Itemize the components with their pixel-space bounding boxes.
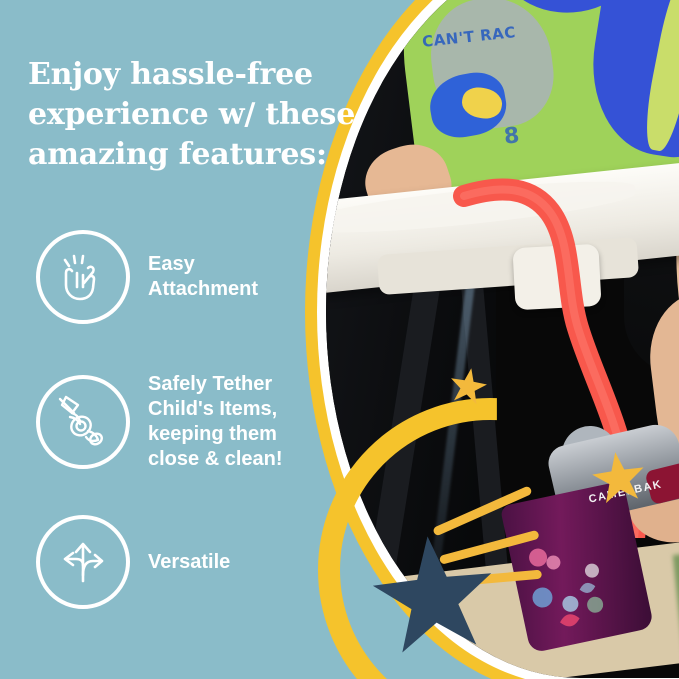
- shirt-number: 8: [503, 123, 521, 149]
- product-feature-infographic: CAN'T RAC 8 CAMELBAK: [0, 0, 679, 679]
- snapping-fingers-hand-icon: [36, 230, 130, 324]
- feature-label: Versatile: [148, 550, 230, 575]
- feature-label: Safely Tether Child's Items, keeping the…: [148, 372, 283, 472]
- feature-item-versatile: Versatile: [36, 515, 230, 609]
- feature-label: Easy Attachment: [148, 252, 258, 302]
- feature-item-easy-attachment: Easy Attachment: [36, 230, 258, 324]
- three-way-arrows-icon: [36, 515, 130, 609]
- pacifier-tether-icon: [36, 375, 130, 469]
- high-chair-tray-clip: [512, 244, 601, 310]
- page-title: Enjoy hassle-free experience w/ these am…: [28, 55, 388, 175]
- feature-item-safely-tether: Safely Tether Child's Items, keeping the…: [36, 372, 283, 472]
